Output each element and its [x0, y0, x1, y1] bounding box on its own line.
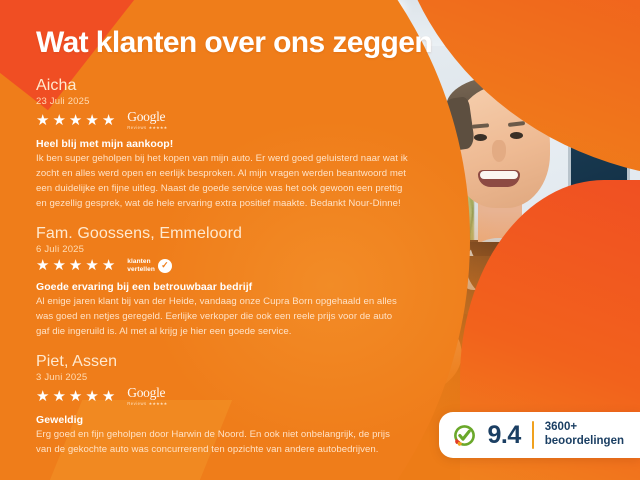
star-icon: ★ — [69, 113, 82, 128]
review-meta: ★ ★ ★ ★ ★ klanten vertellen ✓ — [36, 258, 640, 273]
review-body: Al enige jaren klant bij van der Heide, … — [36, 295, 408, 340]
star-icon: ★ — [69, 389, 82, 404]
review-date: 6 Juli 2025 — [36, 244, 640, 255]
star-icon: ★ — [102, 113, 115, 128]
klantenvertellen-wordmark: klanten vertellen — [127, 258, 155, 273]
star-icon: ★ — [36, 389, 49, 404]
review-body: Erg goed en fijn geholpen door Harwin de… — [36, 428, 408, 458]
page-title: Wat klanten over ons zeggen — [36, 26, 640, 60]
star-icon: ★ — [52, 389, 65, 404]
review-title: Heel blij met mijn aankoop! — [36, 138, 640, 150]
star-icon: ★ — [85, 389, 98, 404]
star-icon: ★ — [102, 389, 115, 404]
rating-score: 9.4 — [488, 423, 521, 448]
review-meta: ★ ★ ★ ★ ★ Google Reviews ★★★★★ — [36, 386, 640, 406]
rating-badge[interactable]: 9.4 3600+ beoordelingen — [439, 412, 640, 458]
content-area: Wat klanten over ons zeggen Aicha 23 Jul… — [0, 0, 640, 480]
google-reviews-badge: Google Reviews ★★★★★ — [127, 110, 167, 130]
google-mini-stars: ★★★★★ — [149, 125, 168, 130]
divider — [532, 421, 534, 449]
klantenvertellen-line2: vertellen — [127, 266, 155, 273]
review-title: Goede ervaring bij een betrouwbaar bedri… — [36, 281, 640, 293]
klantenvertellen-line1: klanten — [127, 258, 155, 265]
klantenvertellen-badge: klanten vertellen ✓ — [127, 258, 172, 273]
review-item: Fam. Goossens, Emmeloord 6 Juli 2025 ★ ★… — [36, 225, 640, 340]
google-reviews-badge: Google Reviews ★★★★★ — [127, 386, 167, 406]
star-icon: ★ — [69, 258, 82, 273]
star-rating: ★ ★ ★ ★ ★ — [36, 258, 115, 273]
google-reviews-label: Reviews — [127, 401, 146, 406]
google-reviews-sub: Reviews ★★★★★ — [127, 125, 167, 130]
star-icon: ★ — [36, 113, 49, 128]
rating-count-label: beoordelingen — [545, 435, 624, 449]
reviewer-name: Aicha — [36, 77, 640, 95]
star-icon: ★ — [52, 258, 65, 273]
google-wordmark: Google — [127, 110, 165, 124]
star-icon: ★ — [85, 258, 98, 273]
review-date: 3 Juni 2025 — [36, 372, 640, 383]
review-date: 23 Juli 2025 — [36, 96, 640, 107]
reviewer-name: Fam. Goossens, Emmeloord — [36, 225, 640, 243]
star-icon: ★ — [36, 258, 49, 273]
star-rating: ★ ★ ★ ★ ★ — [36, 389, 115, 404]
star-icon: ★ — [85, 113, 98, 128]
reviewer-name: Piet, Assen — [36, 353, 640, 371]
kiyoh-check-icon — [452, 423, 477, 448]
google-reviews-sub: Reviews ★★★★★ — [127, 401, 167, 406]
poster-stage: VDH — [0, 0, 640, 480]
review-body: Ik ben super geholpen bij het kopen van … — [36, 152, 408, 211]
rating-count: 3600+ — [545, 421, 624, 435]
star-icon: ★ — [52, 113, 65, 128]
review-item: Aicha 23 Juli 2025 ★ ★ ★ ★ ★ Google Revi… — [36, 77, 640, 212]
check-circle-icon: ✓ — [158, 259, 172, 273]
google-wordmark: Google — [127, 386, 165, 400]
review-meta: ★ ★ ★ ★ ★ Google Reviews ★★★★★ — [36, 110, 640, 130]
rating-count-block: 3600+ beoordelingen — [545, 421, 624, 448]
google-mini-stars: ★★★★★ — [149, 401, 168, 406]
star-icon: ★ — [102, 258, 115, 273]
star-rating: ★ ★ ★ ★ ★ — [36, 113, 115, 128]
google-reviews-label: Reviews — [127, 125, 146, 130]
